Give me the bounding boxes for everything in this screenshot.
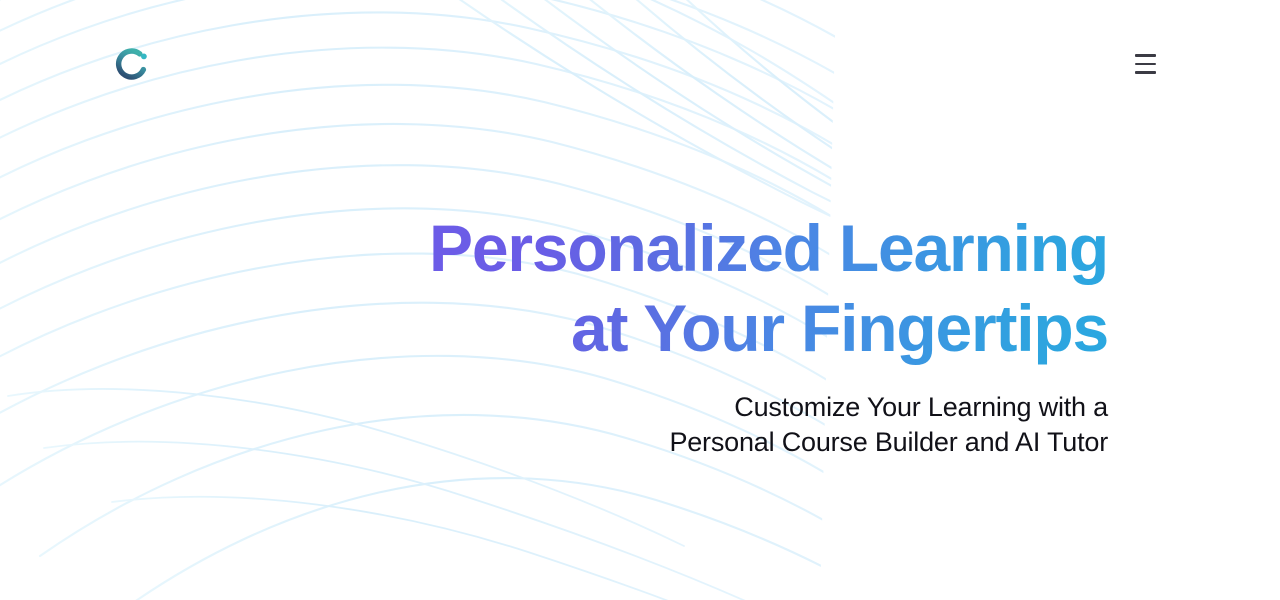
hamburger-menu-icon-bar-3 (1135, 71, 1156, 74)
hamburger-menu-icon-bar-2 (1135, 63, 1156, 66)
hero-subheadline: Customize Your Learning with a Personal … (429, 390, 1108, 460)
hamburger-menu-button[interactable] (1128, 47, 1162, 81)
brand-logo-link[interactable] (112, 46, 154, 88)
hero-page: Personalized Learning at Your Fingertips… (0, 0, 1280, 600)
hero-headline: Personalized Learning at Your Fingertips (429, 208, 1108, 368)
navbar (0, 0, 1280, 130)
hamburger-menu-icon-bar-1 (1135, 54, 1156, 57)
circular-c-logo-icon (112, 46, 154, 88)
